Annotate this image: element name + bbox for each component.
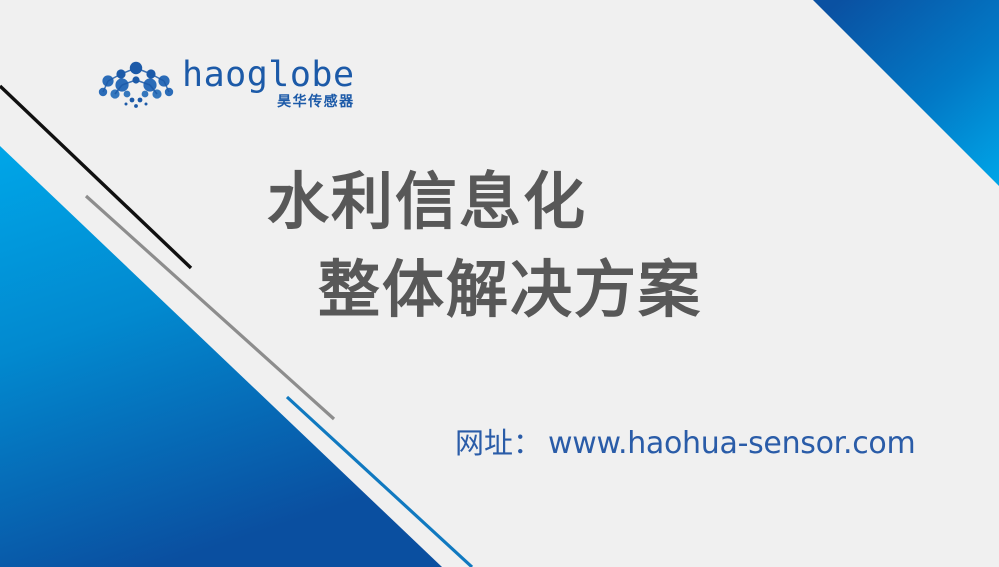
slide-title: 水利信息化 整体解决方案 xyxy=(0,158,890,334)
logo-chinese-subtitle: 昊华传感器 xyxy=(277,94,355,111)
website-line: 网址： www.haohua-sensor.com xyxy=(455,420,915,462)
title-line-2: 整体解决方案 xyxy=(130,246,890,334)
presentation-slide: haoglobe 昊华传感器 水利信息化 整体解决方案 网址： www.haoh… xyxy=(0,0,999,567)
company-logo: haoglobe 昊华传感器 xyxy=(96,57,326,123)
logo-text-block: haoglobe 昊华传感器 xyxy=(182,57,355,111)
title-line-1: 水利信息化 xyxy=(0,158,890,246)
website-url[interactable]: www.haohua-sensor.com xyxy=(548,426,915,461)
logo-wordmark: haoglobe xyxy=(182,57,355,93)
website-label: 网址： xyxy=(455,420,542,462)
haoglobe-network-dots-icon xyxy=(96,61,176,113)
